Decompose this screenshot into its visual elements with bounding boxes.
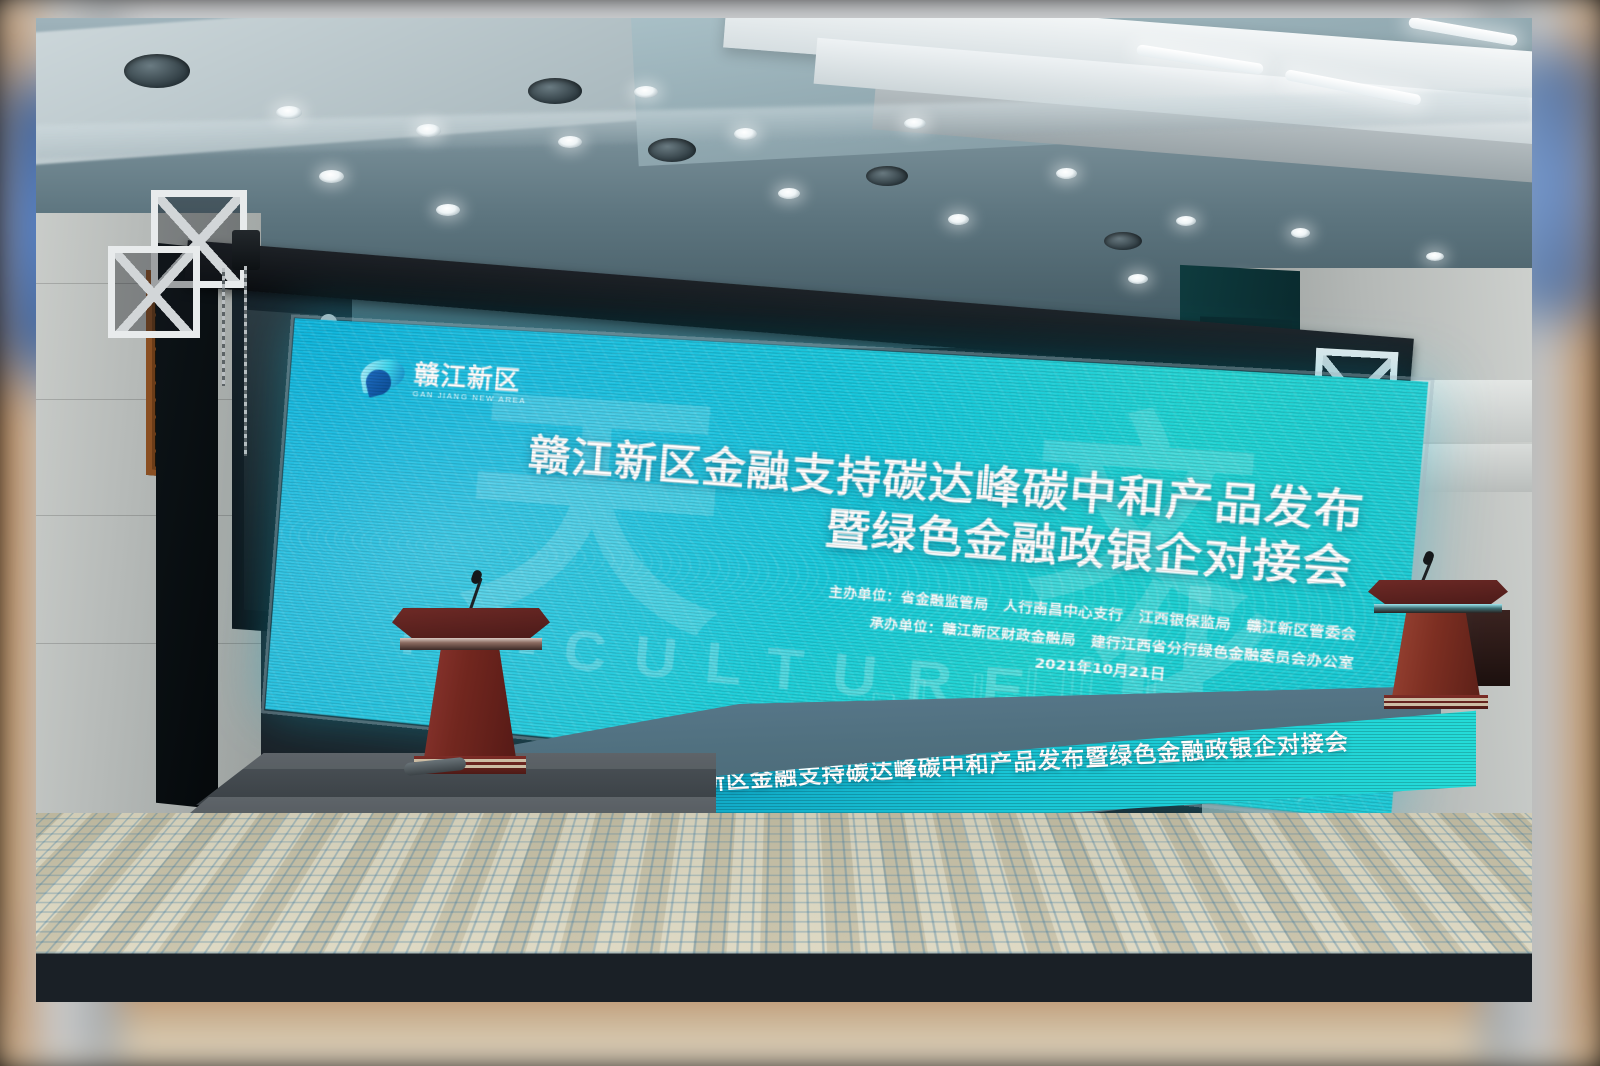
ceiling-vent-icon: [648, 138, 696, 162]
ceiling-downlight-icon: [778, 188, 800, 199]
speaker-podium-right: [1356, 558, 1526, 718]
ceiling-vent-icon: [866, 166, 908, 186]
ceiling-downlight-icon: [1176, 216, 1196, 226]
chain-hoist-icon: [232, 230, 260, 270]
stage-par-light: [493, 236, 537, 273]
ceiling-downlight-icon: [1056, 168, 1077, 179]
ceiling-downlight-icon: [1426, 252, 1444, 261]
stage-par-light: [287, 213, 331, 250]
ceiling-downlight-icon: [558, 136, 582, 148]
ceiling-vent-icon: [124, 54, 190, 88]
ceiling-downlight-icon: [319, 170, 344, 183]
stage-par-light: [1185, 328, 1229, 365]
ceiling-downlight-icon: [904, 118, 926, 129]
ceiling-vent-icon: [528, 78, 582, 104]
stage-par-light: [435, 229, 479, 266]
stage-par-light: [603, 248, 647, 285]
hoist-chain-icon: [222, 268, 225, 386]
ceiling-downlight-icon: [734, 128, 757, 140]
truss-tower-icon: [108, 246, 200, 338]
stage-par-light: [365, 221, 409, 258]
ceiling-downlight-icon: [416, 124, 441, 137]
hall-floor-carpet: [36, 813, 1532, 953]
stage-par-light: [547, 242, 591, 279]
stage-par-light: [1107, 316, 1151, 353]
ceiling-vent-icon: [1104, 232, 1142, 250]
stage-par-light: [847, 279, 891, 316]
ceiling-downlight-icon: [276, 106, 302, 119]
stage-par-light: [757, 267, 801, 304]
photo-frame: 天 文 化 赣江新区 GAN JIANG NEW AREA 赣江新区金融支持碳达…: [0, 0, 1600, 1066]
stage-par-light: [893, 285, 937, 322]
ceiling-downlight-icon: [1128, 274, 1148, 284]
stage-par-light: [799, 273, 843, 310]
stage-par-light: [655, 255, 699, 292]
event-photo: 天 文 化 赣江新区 GAN JIANG NEW AREA 赣江新区金融支持碳达…: [36, 18, 1532, 1002]
ceiling-downlight-icon: [1291, 228, 1310, 238]
speaker-podium-left: [376, 580, 566, 790]
ceiling-downlight-icon: [948, 214, 969, 225]
stage-par-light: [935, 291, 979, 328]
ceiling-downlight-icon: [634, 86, 658, 98]
hoist-chain-icon: [244, 266, 247, 456]
stage-par-light: [1025, 304, 1069, 341]
stage-par-light: [1065, 310, 1109, 347]
ceiling-downlight-icon: [436, 204, 460, 216]
stage-par-light: [981, 297, 1025, 334]
stage-par-light: [707, 261, 751, 298]
